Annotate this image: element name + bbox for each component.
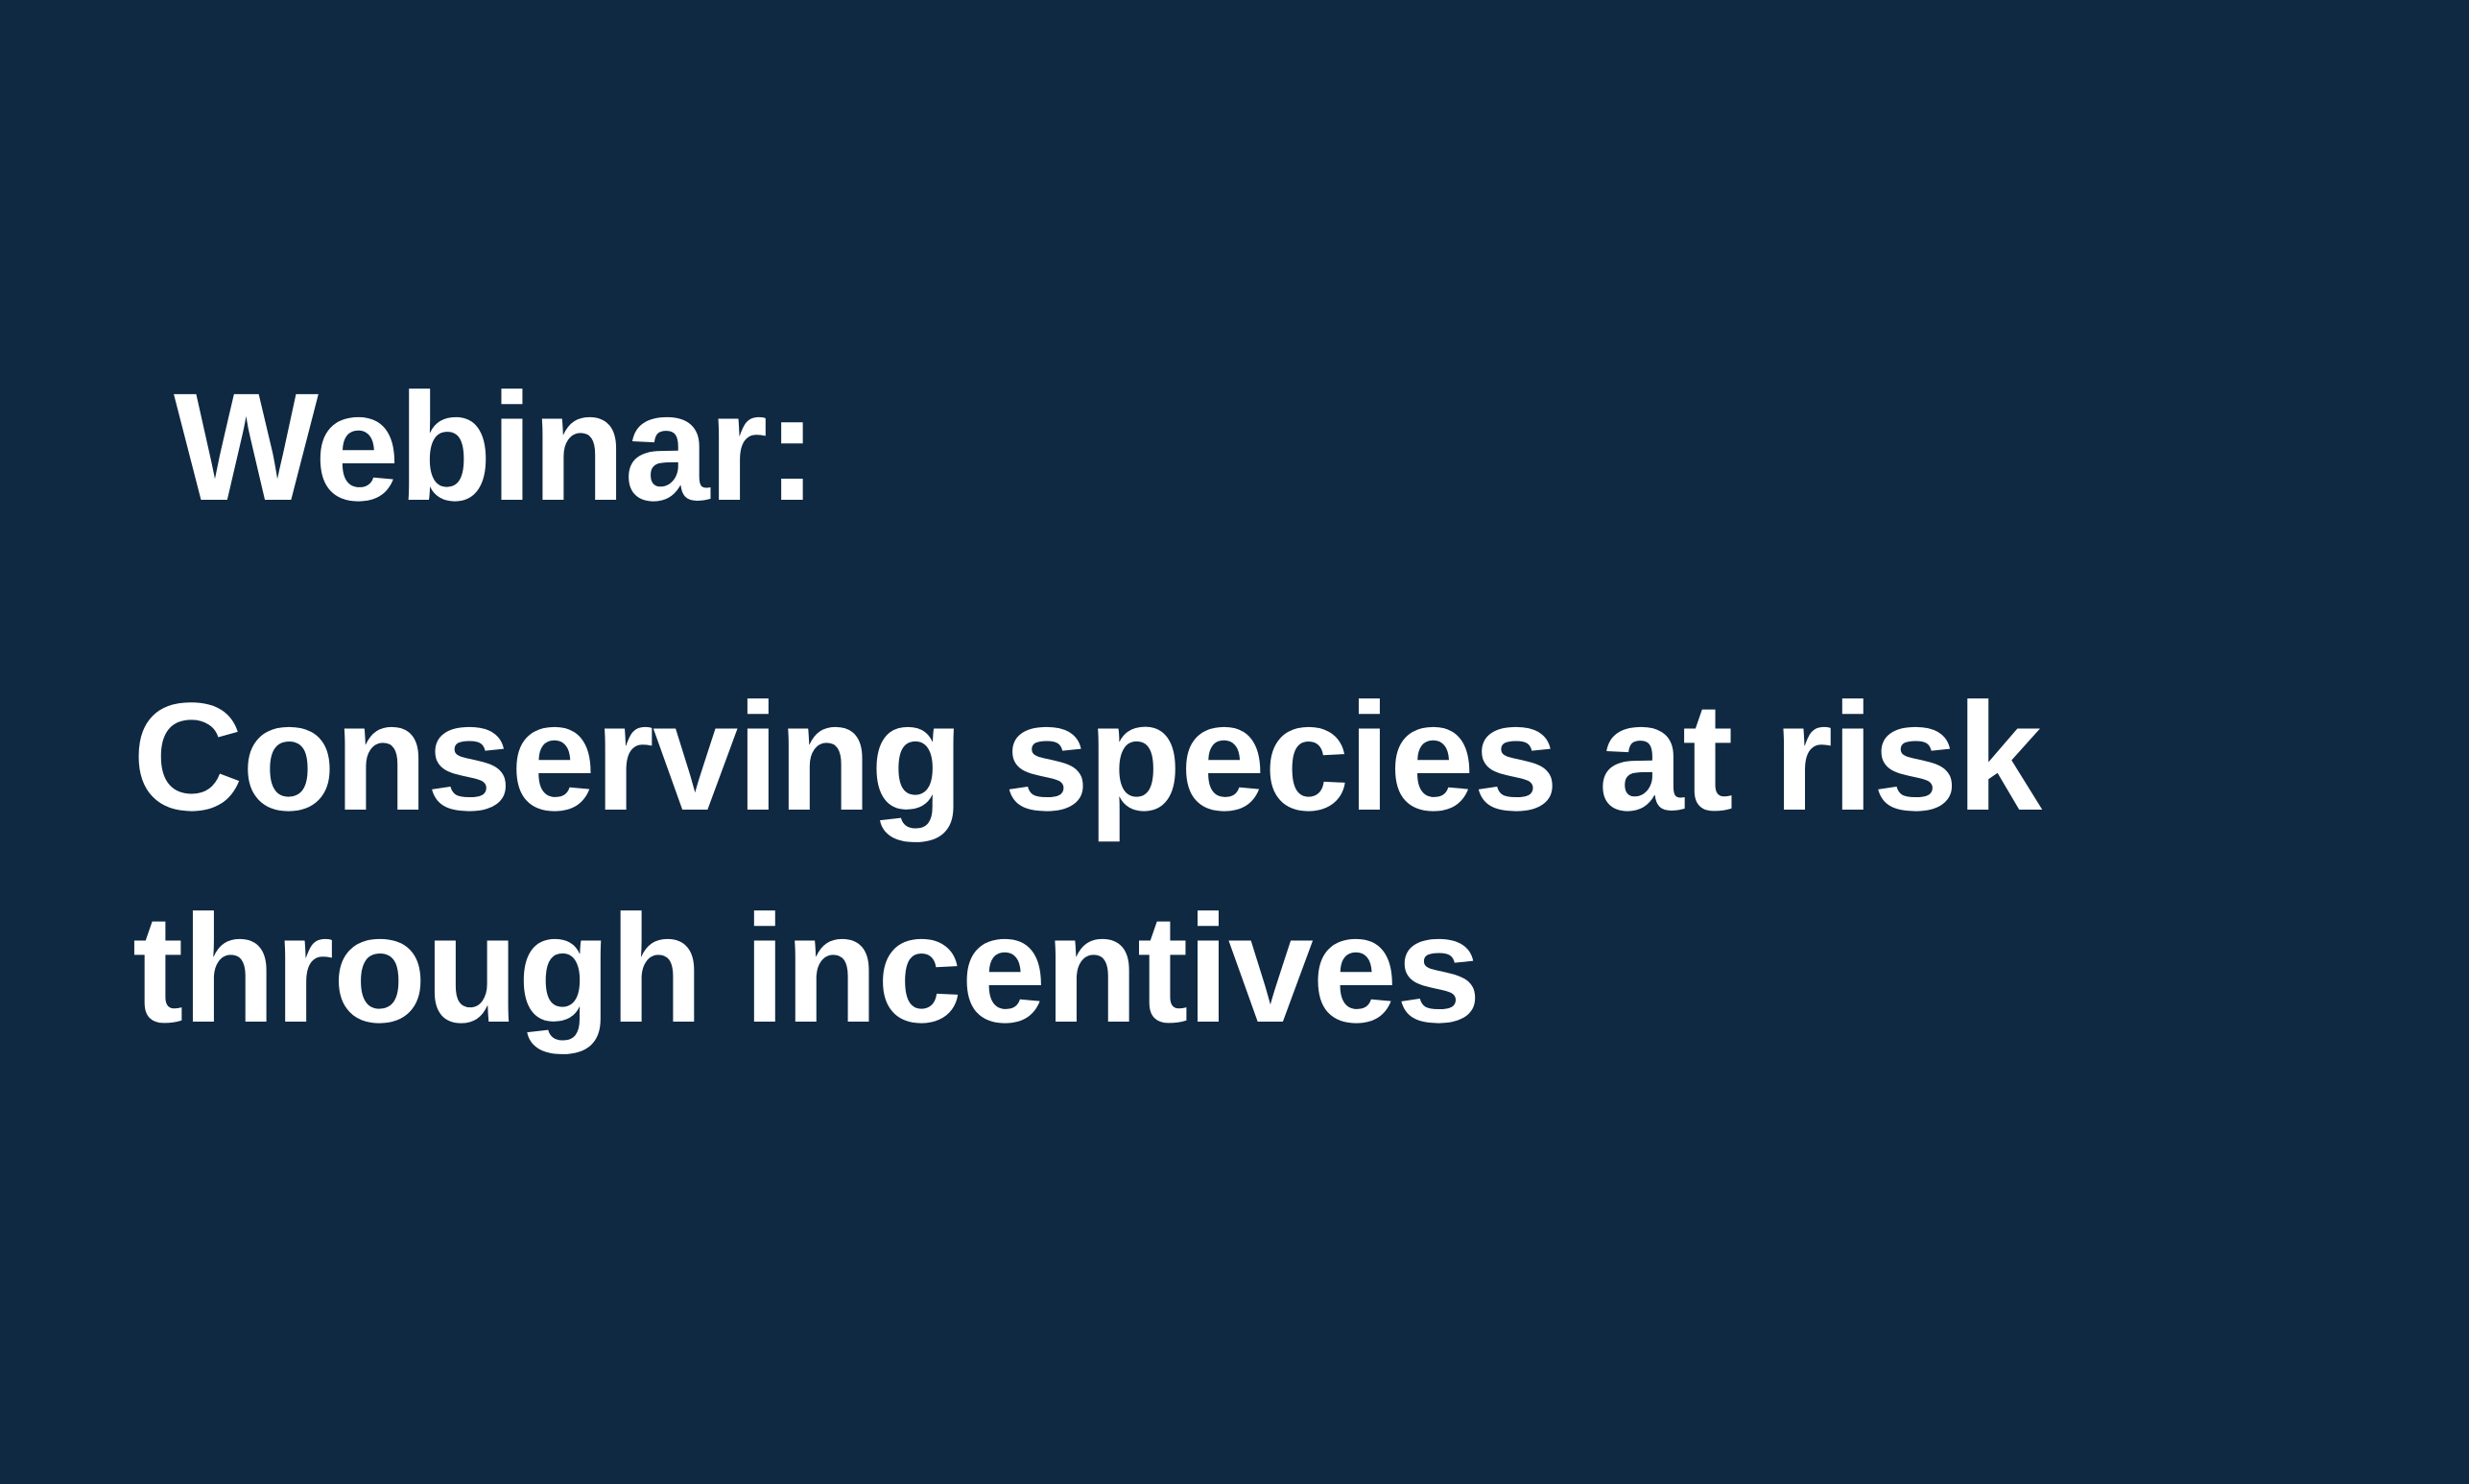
slide-eyebrow-label: Webinar: xyxy=(132,357,2243,538)
slide-headline: Conserving species at risk through incen… xyxy=(132,651,2100,1075)
headline-line-2: through incentives xyxy=(132,863,2100,1075)
title-slide: Webinar: Conserving species at risk thro… xyxy=(0,0,2469,1484)
slide-text-block: Webinar: Conserving species at risk thro… xyxy=(132,357,2243,1074)
headline-line-1: Conserving species at risk xyxy=(132,651,2100,863)
